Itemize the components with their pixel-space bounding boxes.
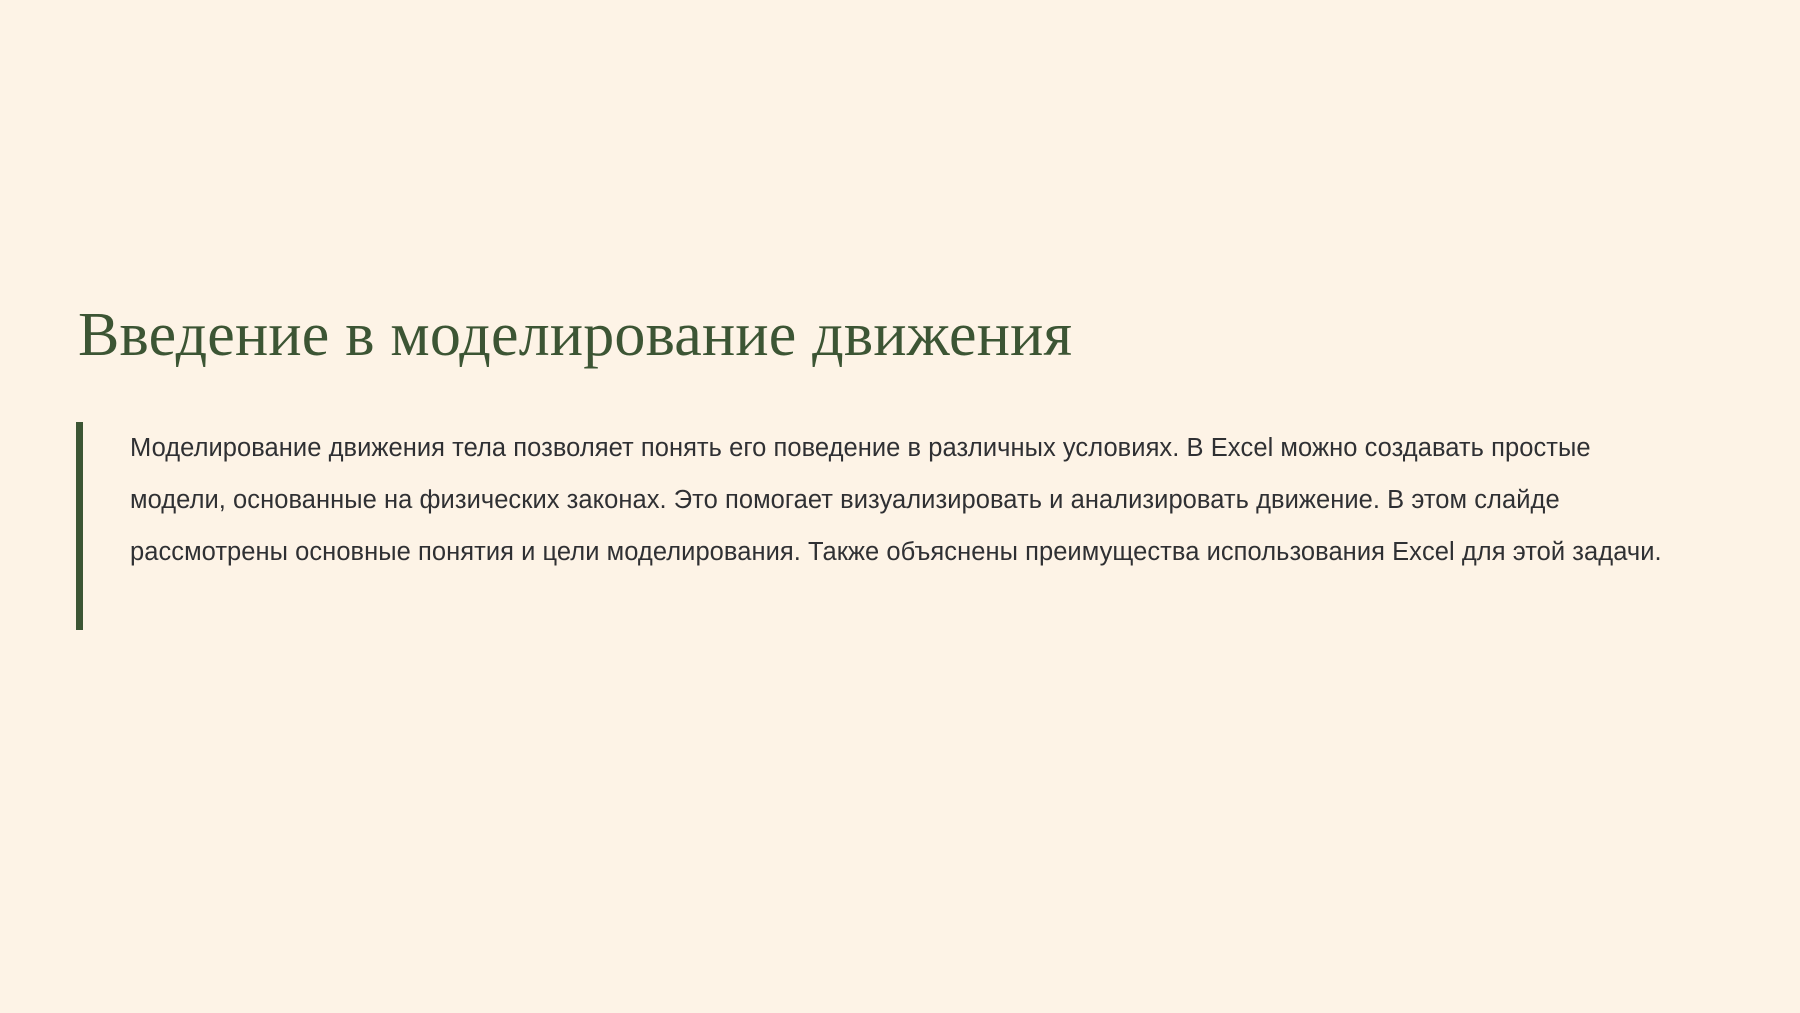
slide-canvas: Введение в моделирование движения Модели… (0, 0, 1800, 1013)
page-title: Введение в моделирование движения (76, 300, 1724, 372)
body-paragraph: Моделирование движения тела позволяет по… (130, 422, 1690, 578)
slide-content: Введение в моделирование движения Модели… (76, 300, 1724, 578)
body-block: Моделирование движения тела позволяет по… (76, 422, 1724, 578)
accent-bar (76, 422, 83, 630)
